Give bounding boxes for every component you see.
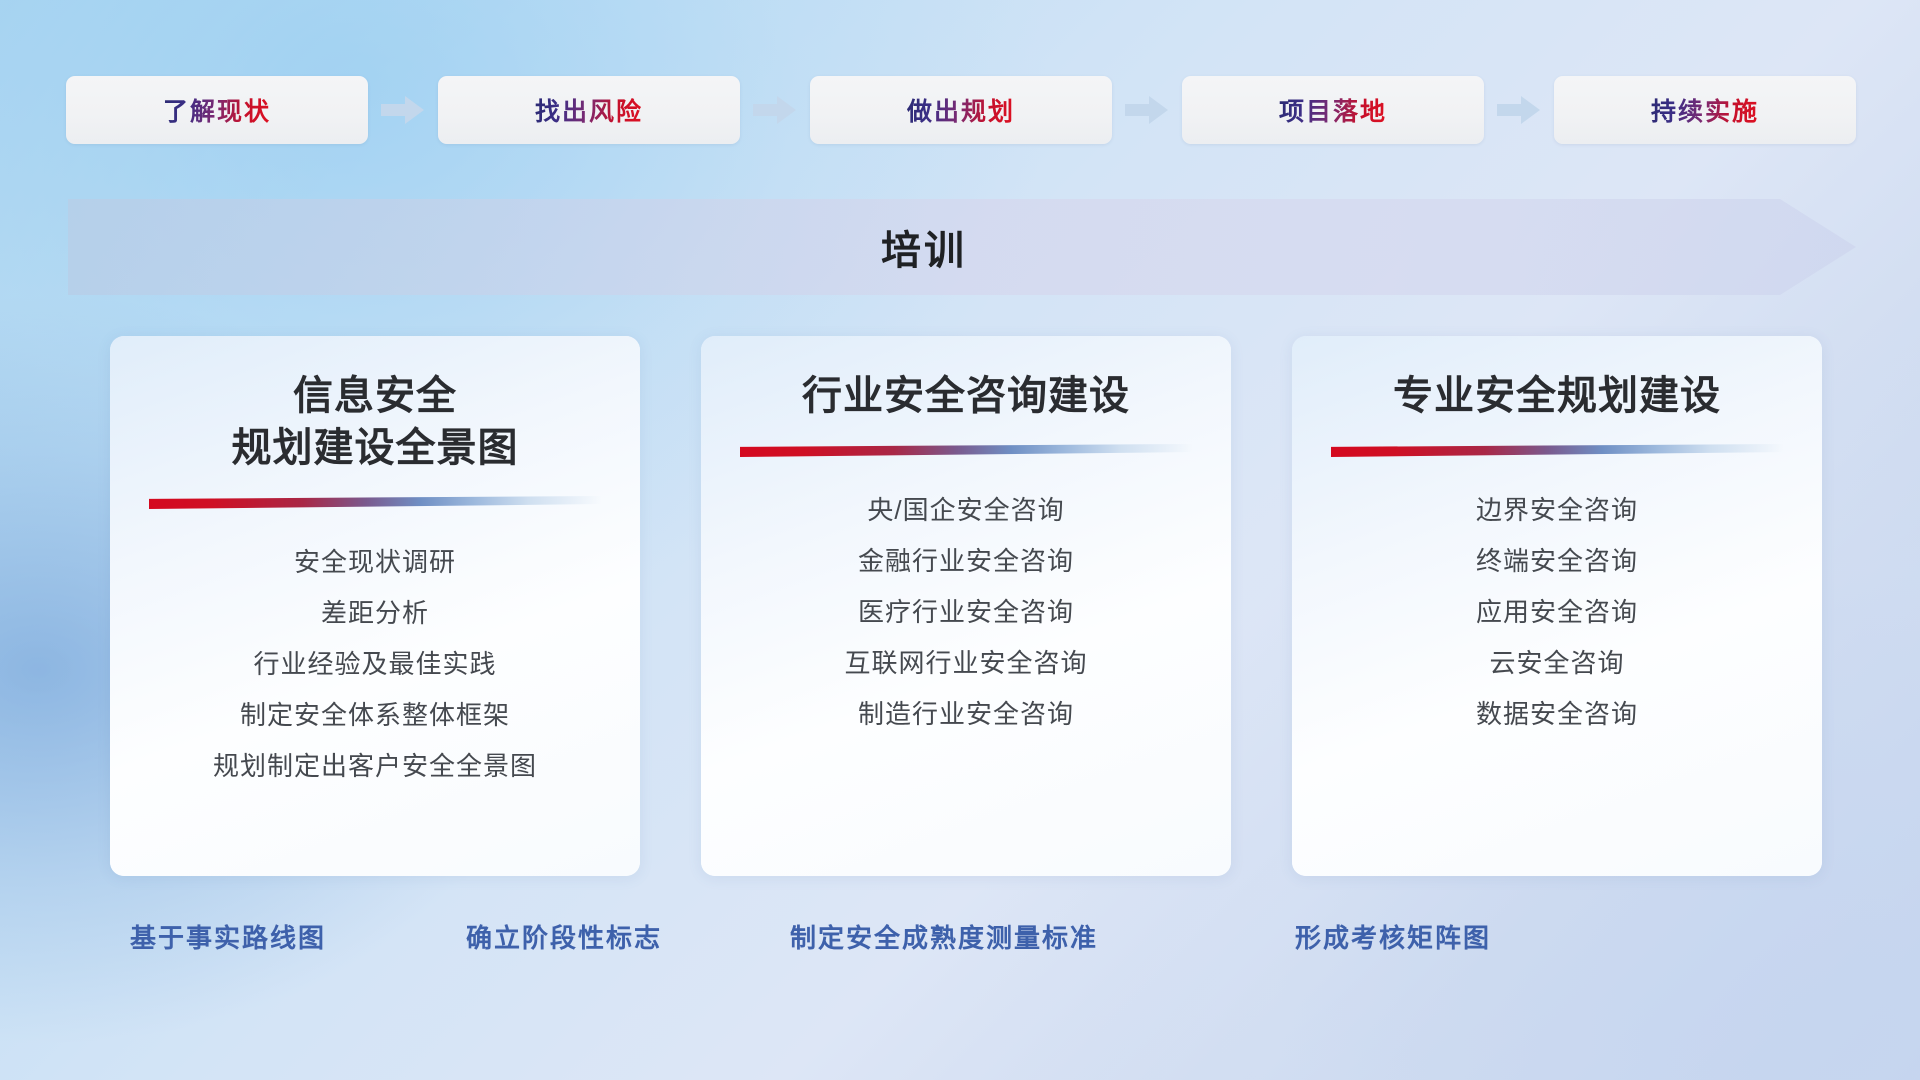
process-step-1[interactable]: 了解现状 <box>66 76 368 144</box>
arrow-right-icon <box>1125 95 1169 125</box>
service-card-body: 信息安全 规划建设全景图安全现状调研差距分析行业经验及最佳实践制定安全体系整体框… <box>110 336 640 876</box>
list-item: 终端安全咨询 <box>1476 536 1638 587</box>
process-step-3[interactable]: 做出规划 <box>810 76 1112 144</box>
bottom-caption-2: 确立阶段性标志 <box>466 918 662 955</box>
card-divider-gradient <box>1331 444 1783 457</box>
list-item: 差距分析 <box>321 588 429 639</box>
process-step-2[interactable]: 找出风险 <box>438 76 740 144</box>
card-divider-gradient <box>149 496 601 509</box>
list-item: 互联网行业安全咨询 <box>844 638 1087 689</box>
service-card-list: 边界安全咨询终端安全咨询应用安全咨询云安全咨询数据安全咨询 <box>1476 485 1638 740</box>
service-card-title: 行业安全咨询建设 <box>802 370 1130 422</box>
bottom-caption-group: 基于事实路线图确立阶段性标志制定安全成熟度测量标准形成考核矩阵图 <box>0 918 1920 968</box>
training-banner-label: 培训 <box>68 199 1780 295</box>
list-item: 行业经验及最佳实践 <box>253 639 496 690</box>
list-item: 应用安全咨询 <box>1476 587 1638 638</box>
process-step-label: 做出规划 <box>907 92 1015 128</box>
arrow-right-icon <box>381 95 425 125</box>
list-item: 央/国企安全咨询 <box>867 485 1064 536</box>
bottom-caption-1: 基于事实路线图 <box>130 918 326 955</box>
card-divider-gradient <box>740 444 1192 457</box>
process-step-label: 持续实施 <box>1651 92 1759 128</box>
list-item: 云安全咨询 <box>1489 638 1624 689</box>
service-card-3[interactable]: 专业安全规划建设边界安全咨询终端安全咨询应用安全咨询云安全咨询数据安全咨询 <box>1292 336 1822 876</box>
list-item: 金融行业安全咨询 <box>858 536 1074 587</box>
list-item: 医疗行业安全咨询 <box>858 587 1074 638</box>
process-step-label: 找出风险 <box>535 92 643 128</box>
process-step-label: 项目落地 <box>1279 92 1387 128</box>
service-card-list: 央/国企安全咨询金融行业安全咨询医疗行业安全咨询互联网行业安全咨询制造行业安全咨… <box>844 485 1087 740</box>
process-step-label: 了解现状 <box>163 92 271 128</box>
bottom-caption-3: 制定安全成熟度测量标准 <box>790 918 1098 955</box>
infographic-canvas: 了解现状找出风险做出规划项目落地持续实施 培训 信息安全 规划建设全景图安全现状… <box>0 0 1920 1080</box>
service-card-list: 安全现状调研差距分析行业经验及最佳实践制定安全体系整体框架规划制定出客户安全全景… <box>213 537 537 792</box>
service-card-title: 专业安全规划建设 <box>1393 370 1721 422</box>
service-card-title: 信息安全 规划建设全景图 <box>232 370 519 474</box>
service-card-body: 专业安全规划建设边界安全咨询终端安全咨询应用安全咨询云安全咨询数据安全咨询 <box>1292 336 1822 876</box>
list-item: 安全现状调研 <box>294 537 456 588</box>
process-step-4[interactable]: 项目落地 <box>1182 76 1484 144</box>
training-banner: 培训 <box>68 199 1856 295</box>
list-item: 制造行业安全咨询 <box>858 689 1074 740</box>
list-item: 规划制定出客户安全全景图 <box>213 741 537 792</box>
list-item: 制定安全体系整体框架 <box>240 690 510 741</box>
bottom-caption-4: 形成考核矩阵图 <box>1295 918 1491 955</box>
arrow-right-icon <box>753 95 797 125</box>
service-card-group: 信息安全 规划建设全景图安全现状调研差距分析行业经验及最佳实践制定安全体系整体框… <box>110 336 1822 876</box>
list-item: 数据安全咨询 <box>1476 689 1638 740</box>
service-card-2[interactable]: 行业安全咨询建设央/国企安全咨询金融行业安全咨询医疗行业安全咨询互联网行业安全咨… <box>701 336 1231 876</box>
arrow-right-icon <box>1497 95 1541 125</box>
process-step-flow: 了解现状找出风险做出规划项目落地持续实施 <box>66 76 1856 144</box>
list-item: 边界安全咨询 <box>1476 485 1638 536</box>
service-card-1[interactable]: 信息安全 规划建设全景图安全现状调研差距分析行业经验及最佳实践制定安全体系整体框… <box>110 336 640 876</box>
process-step-5[interactable]: 持续实施 <box>1554 76 1856 144</box>
service-card-body: 行业安全咨询建设央/国企安全咨询金融行业安全咨询医疗行业安全咨询互联网行业安全咨… <box>701 336 1231 876</box>
